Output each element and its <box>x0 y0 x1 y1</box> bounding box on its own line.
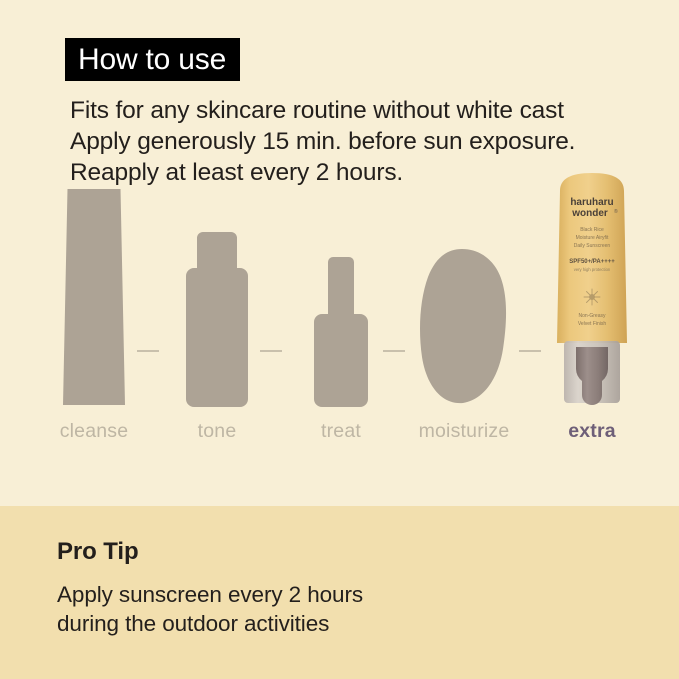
cream-blob-silhouette-icon <box>418 247 510 407</box>
product-spf-sub: very high protection <box>574 267 611 272</box>
step-separator-1 <box>137 350 159 352</box>
pro-tip-body: Apply sunscreen every 2 hours during the… <box>57 580 617 638</box>
step-label-moisturize: moisturize <box>404 420 524 443</box>
pro-tip-line-2: during the outdoor activities <box>57 609 617 638</box>
page-title: How to use <box>78 45 226 75</box>
headline-badge: How to use <box>65 38 240 81</box>
product-feature-1: Non-Greasy <box>579 313 606 319</box>
how-to-use-infographic: How to use Fits for any skincare routine… <box>0 0 679 679</box>
step-separator-2 <box>260 350 282 352</box>
pro-tip-line-1: Apply sunscreen every 2 hours <box>57 580 617 609</box>
product-spf: SPF50+/PA++++ <box>569 259 615 265</box>
tube-silhouette-icon <box>61 187 127 407</box>
sunscreen-product-icon: haruharu wonder ® Black Rice Moisture Ai… <box>546 171 638 407</box>
step-label-tone: tone <box>157 420 277 443</box>
step-label-treat: treat <box>281 420 401 443</box>
step-separator-4 <box>519 350 541 352</box>
serum-bottle-silhouette-icon <box>312 255 370 407</box>
toner-bottle-silhouette-icon <box>186 230 248 407</box>
product-brand-line2: wonder <box>571 208 608 219</box>
top-section: How to use Fits for any skincare routine… <box>0 0 679 506</box>
instruction-line-1: Fits for any skincare routine without wh… <box>70 95 650 126</box>
product-description-1: Black Rice <box>580 227 604 233</box>
product-description-3: Daily Sunscreen <box>574 243 611 249</box>
pro-tip-title: Pro Tip <box>57 538 139 566</box>
product-description-2: Moisture Airyfit <box>576 235 609 241</box>
instruction-line-2: Apply generously 15 min. before sun expo… <box>70 126 650 157</box>
product-trademark: ® <box>614 208 618 215</box>
sunscreen-tube-graphic: haruharu wonder ® Black Rice Moisture Ai… <box>546 171 638 407</box>
step-separator-3 <box>383 350 405 352</box>
product-brand-line1: haruharu <box>570 197 613 208</box>
step-label-extra: extra <box>532 420 652 443</box>
pro-tip-section: Pro Tip Apply sunscreen every 2 hours du… <box>0 506 679 679</box>
product-emblem-icon <box>584 289 600 305</box>
step-label-cleanse: cleanse <box>34 420 154 443</box>
routine-steps-row: cleanse tone treat <box>0 205 679 455</box>
product-feature-2: Velvet Finish <box>578 321 607 327</box>
